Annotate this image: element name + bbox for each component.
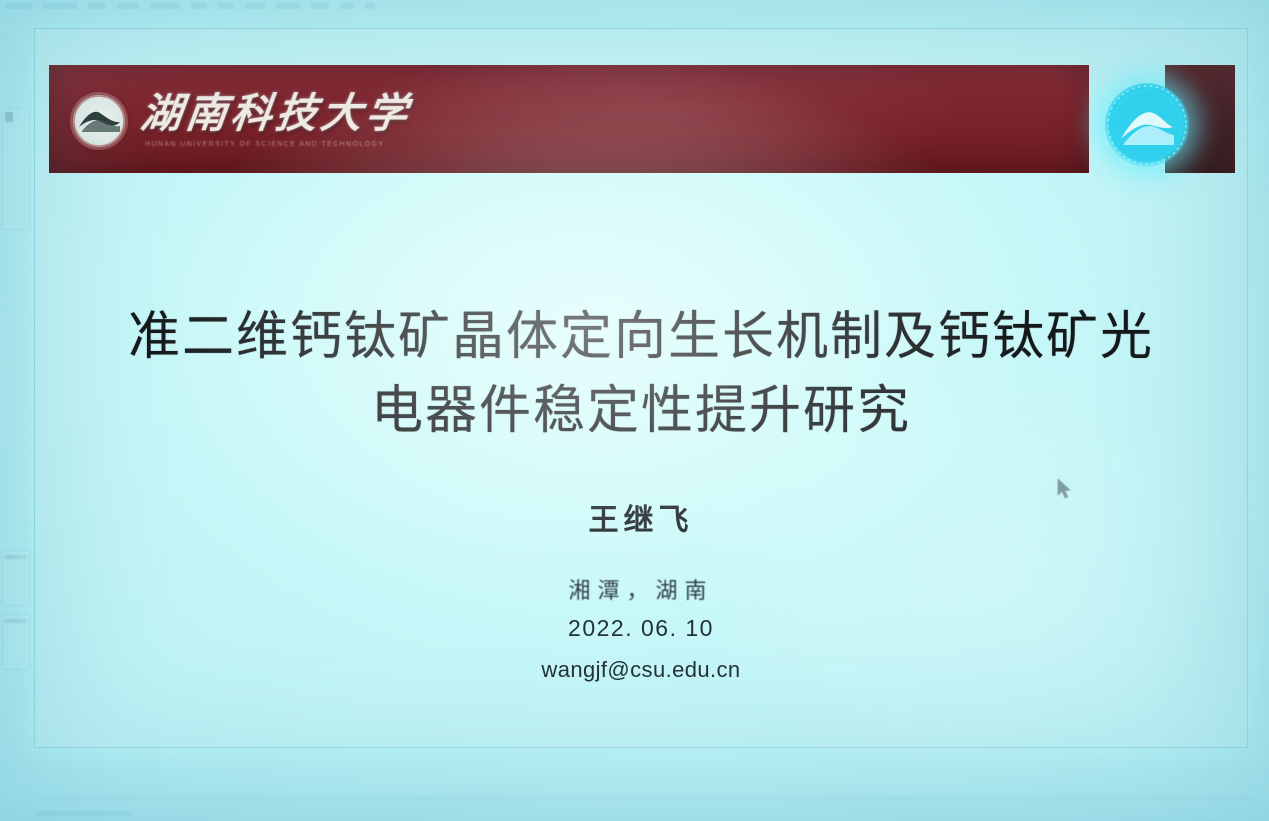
university-name: 湖南科技大学 xyxy=(138,87,434,139)
page-title-line-1: 准二维钙钛矿晶体定向生长机制及钙钛矿光 xyxy=(89,301,1193,375)
university-crest-icon xyxy=(73,95,125,147)
mountain-emblem-icon xyxy=(1105,83,1189,167)
author-name: 王继飞 xyxy=(89,495,1193,539)
screenshot-stage: 湖南科技大学 HUNAN UNIVERSITY OF SCIENCE AND T… xyxy=(0,0,1269,821)
mouse-pointer-icon xyxy=(1057,478,1073,500)
location-text: 湘潭，湖南 xyxy=(89,573,1193,605)
date-text: 2022. 06. 10 xyxy=(89,615,1193,642)
page-title-line-2: 电器件稳定性提升研究 xyxy=(89,375,1193,449)
presentation-slide: 湖南科技大学 HUNAN UNIVERSITY OF SCIENCE AND T… xyxy=(34,28,1248,748)
university-name-english: HUNAN UNIVERSITY OF SCIENCE AND TECHNOLO… xyxy=(145,141,565,148)
email-text: wangjf@csu.edu.cn xyxy=(89,657,1193,683)
page-title: 准二维钙钛矿晶体定向生长机制及钙钛矿光 电器件稳定性提升研究 xyxy=(89,301,1193,449)
slide-header-banner: 湖南科技大学 HUNAN UNIVERSITY OF SCIENCE AND T… xyxy=(49,65,1235,173)
